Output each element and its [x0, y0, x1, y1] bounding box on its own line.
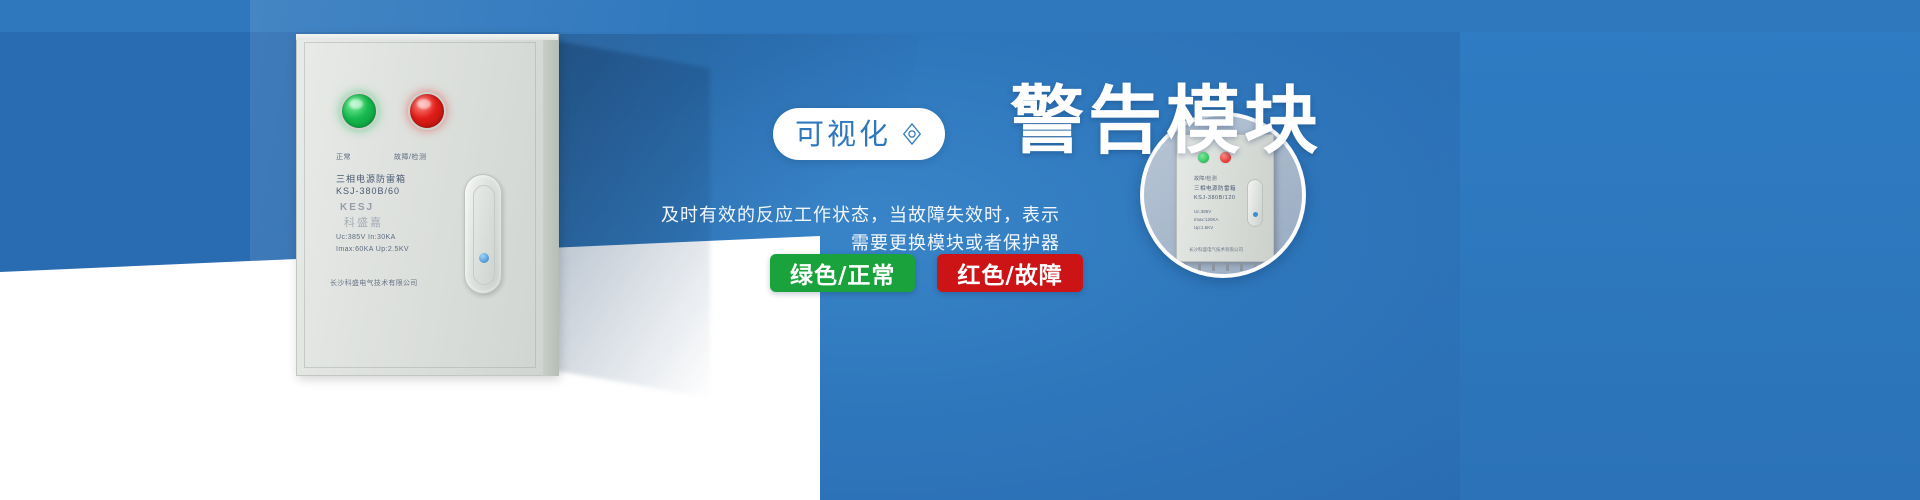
- led-label-normal: 正常: [336, 152, 351, 162]
- device-model: KSJ-380B/60: [336, 186, 400, 196]
- device-right-edge: [543, 34, 559, 376]
- device-door-handle: [464, 174, 502, 294]
- inset-led-labels: 故障/检测: [1194, 175, 1217, 182]
- pill-label: 可视化: [795, 120, 891, 149]
- inset-device-title: 三相电源防雷箱: [1194, 184, 1236, 192]
- subtitle-block: 及时有效的反应工作状态，当故障失效时，表示 需要更换模块或者保护器: [660, 202, 1060, 258]
- page-title: 警告模块: [1010, 84, 1322, 158]
- subtitle-line-1: 及时有效的反应工作状态，当故障失效时，表示: [660, 202, 1060, 230]
- inset-company-name: 长沙科盛电气技术有限公司: [1189, 247, 1243, 253]
- inset-spec-line-3: Up:1.5KV: [1194, 225, 1213, 230]
- device-title: 三相电源防雷箱: [336, 172, 406, 185]
- device-spec-line-2: Imax:60KA Up:2.5KV: [336, 246, 409, 253]
- background-top-strip: [0, 0, 1920, 32]
- device-brand-en: KESJ: [340, 202, 374, 213]
- inset-door-handle: [1247, 179, 1263, 227]
- device-handle-inner: [473, 185, 495, 285]
- indicator-led-green: [340, 92, 378, 130]
- device-brand-cn: 科盛嘉: [344, 214, 383, 230]
- status-badge-green-label: 绿色/正常: [790, 256, 895, 290]
- product-hero-banner: 正常 故障/检测 三相电源防雷箱 KSJ-380B/60 KESJ 科盛嘉 Uc…: [0, 0, 1920, 500]
- device-company-name: 长沙科盛电气技术有限公司: [330, 278, 418, 288]
- background-right-panel: [1440, 0, 1920, 500]
- device-top-edge: [296, 34, 558, 40]
- device-handle-lock-dot: [479, 253, 489, 263]
- status-badge-red[interactable]: 红色/故障: [937, 254, 1082, 292]
- inset-spec-line-2: Imax:120KA: [1194, 217, 1219, 222]
- inset-spec-line-1: Uc:385V: [1194, 209, 1211, 214]
- eye-diamond-icon: [901, 122, 923, 146]
- status-badge-row: 绿色/正常 红色/故障: [770, 254, 1083, 292]
- status-badge-red-label: 红色/故障: [957, 256, 1062, 290]
- visualization-pill-badge[interactable]: 可视化: [773, 108, 945, 160]
- device-spec-line-1: Uc:385V In:30KA: [336, 234, 396, 241]
- inset-device-terminals: [1184, 262, 1266, 272]
- device-photo-main: 正常 故障/检测 三相电源防雷箱 KSJ-380B/60 KESJ 科盛嘉 Uc…: [296, 34, 558, 376]
- inset-handle-lock-dot: [1253, 212, 1258, 217]
- inset-device-model: KSJ-380B/120: [1194, 195, 1235, 201]
- status-badge-green[interactable]: 绿色/正常: [770, 254, 915, 292]
- led-label-fault: 故障/检测: [394, 152, 426, 162]
- indicator-led-red: [408, 92, 446, 130]
